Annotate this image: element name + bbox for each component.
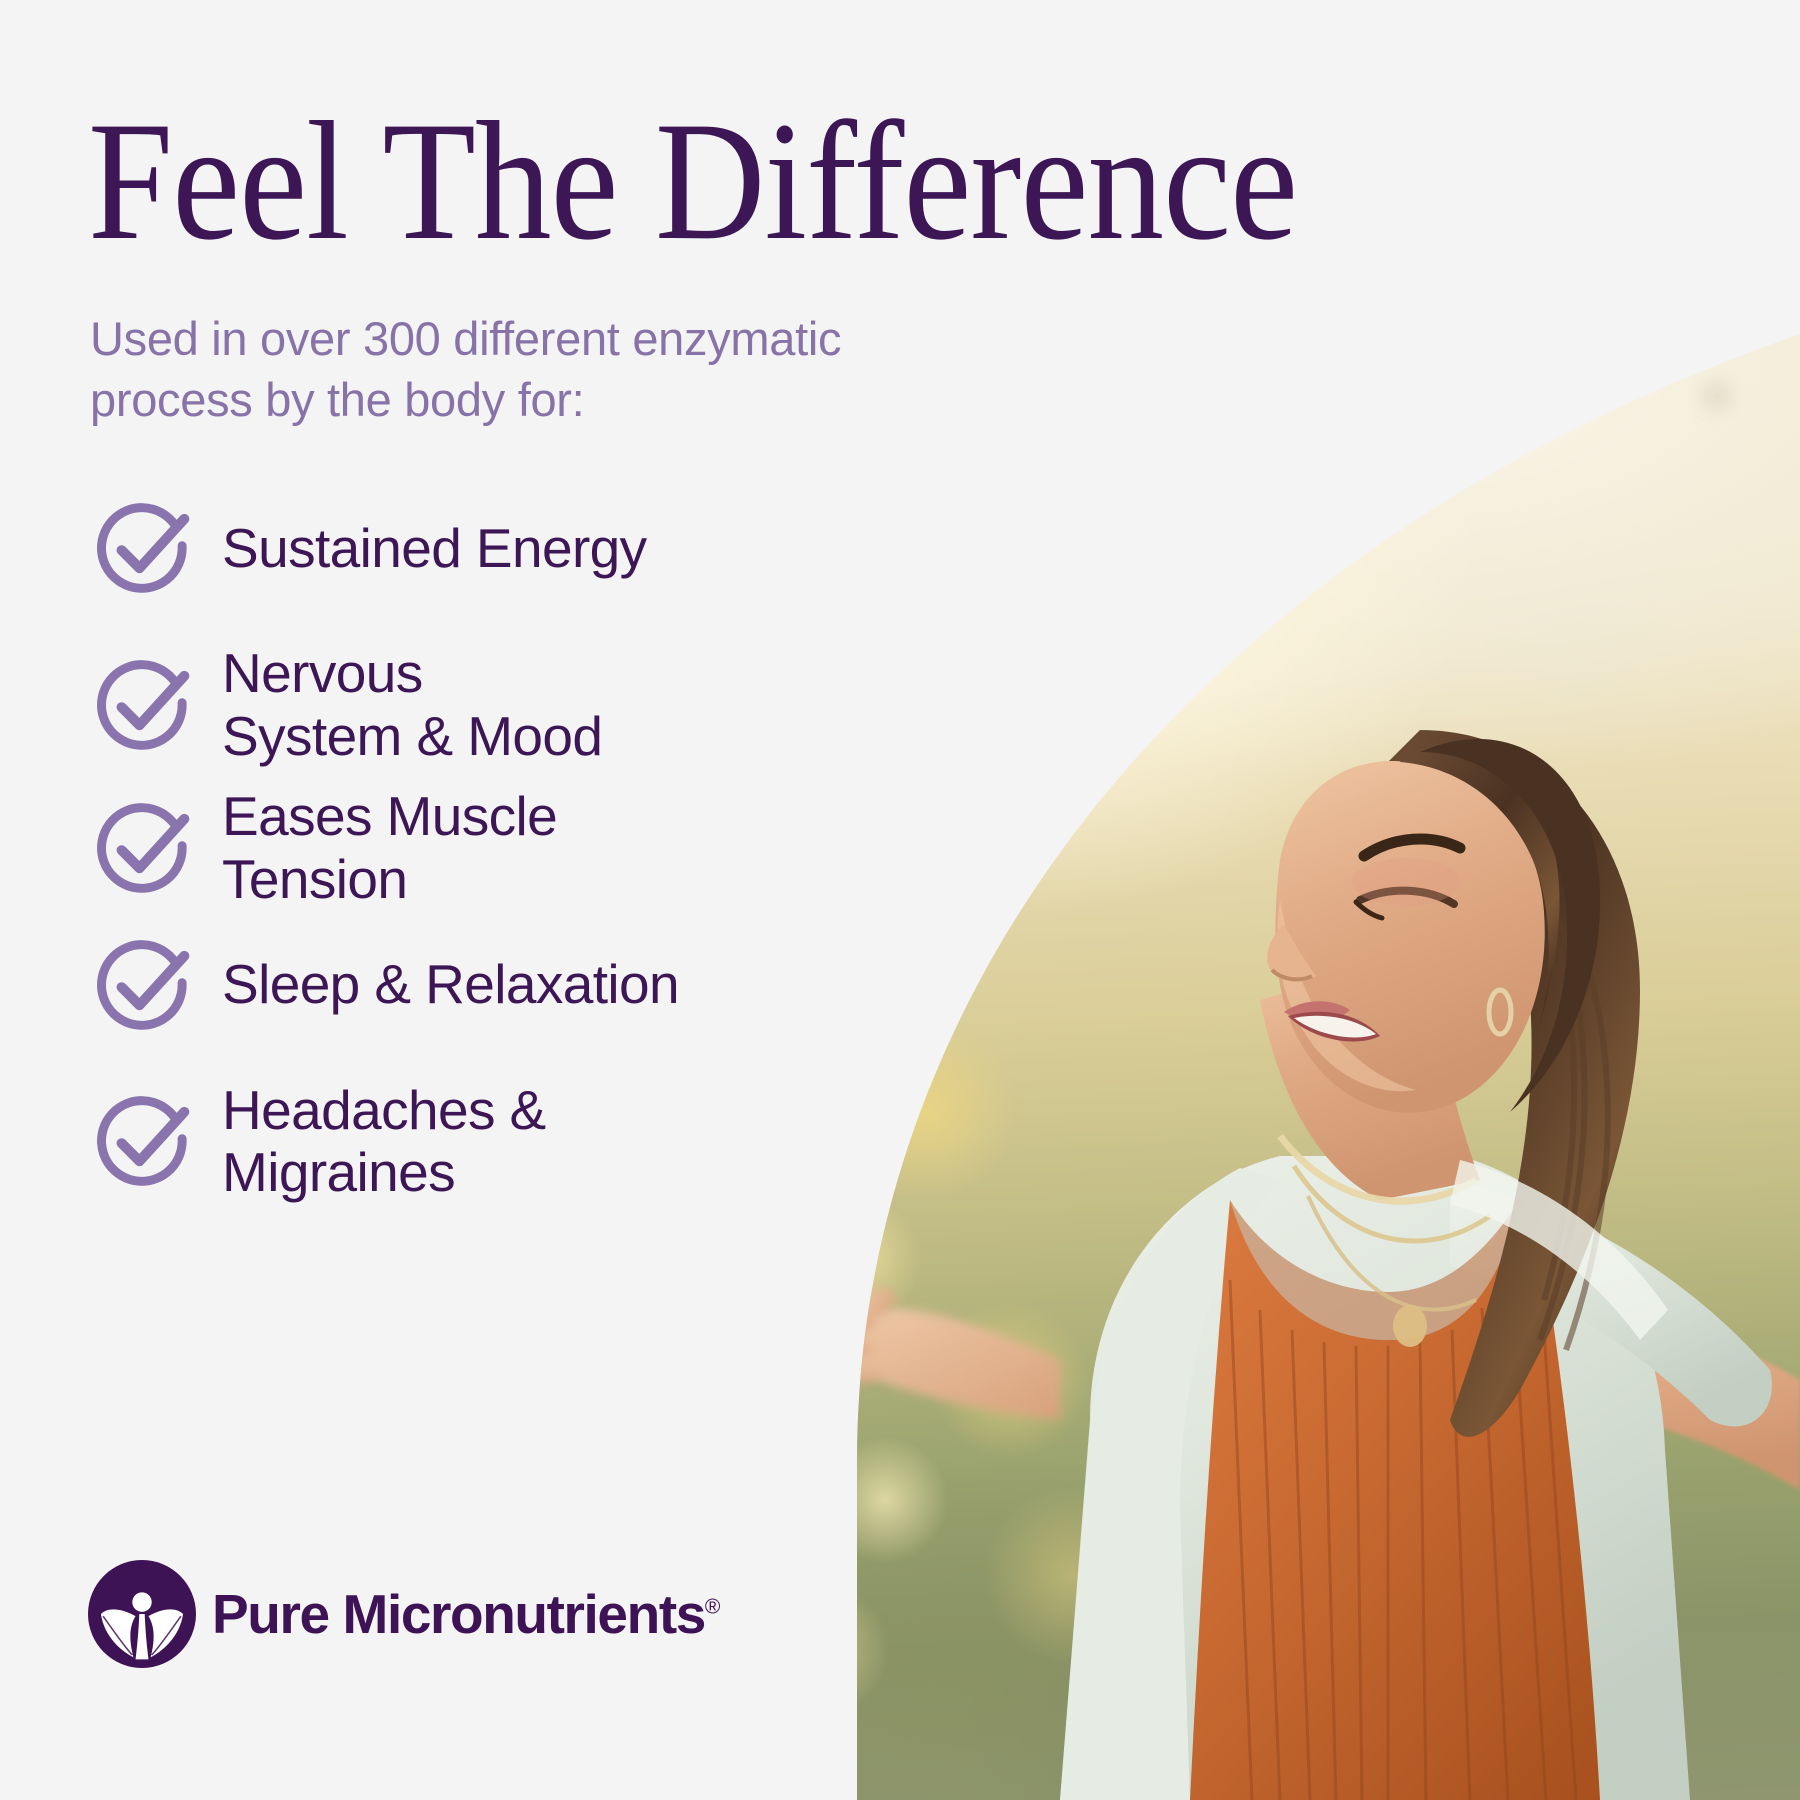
list-item: Sustained Energy [88, 492, 788, 604]
check-circle-icon [88, 792, 200, 904]
benefits-checklist: Sustained Energy Nervous System & Mood E… [88, 492, 788, 1222]
check-circle-icon [88, 649, 200, 761]
lifestyle-photo [760, 300, 1800, 1800]
pure-micronutrients-leaf-figure-logo [88, 1560, 196, 1668]
subtitle-text: Used in over 300 different enzymatic pro… [90, 308, 920, 430]
content-column: Feel The Difference Used in over 300 dif… [0, 0, 780, 1800]
brand-name: Pure Micronutrients [212, 1583, 705, 1645]
woman-figure [760, 300, 1800, 1800]
list-item: Sleep & Relaxation [88, 929, 788, 1041]
list-item: Nervous System & Mood [88, 642, 788, 767]
promo-graphic: Feel The Difference Used in over 300 dif… [0, 0, 1800, 1800]
check-circle-icon [88, 1085, 200, 1197]
list-item-label: Nervous System & Mood [222, 642, 602, 767]
list-item-label: Sleep & Relaxation [222, 953, 679, 1016]
list-item: Eases Muscle Tension [88, 785, 788, 910]
page-title: Feel The Difference [88, 96, 1150, 266]
brand-logo: Pure Micronutrients® [88, 1560, 720, 1668]
check-circle-icon [88, 929, 200, 1041]
list-item-label: Headaches & Migraines [222, 1079, 546, 1204]
brand-wordmark: Pure Micronutrients® [212, 1582, 720, 1646]
list-item-label: Sustained Energy [222, 517, 647, 580]
check-circle-icon [88, 492, 200, 604]
list-item-label: Eases Muscle Tension [222, 785, 557, 910]
registered-trademark-icon: ® [705, 1596, 720, 1619]
list-item: Headaches & Migraines [88, 1079, 788, 1204]
